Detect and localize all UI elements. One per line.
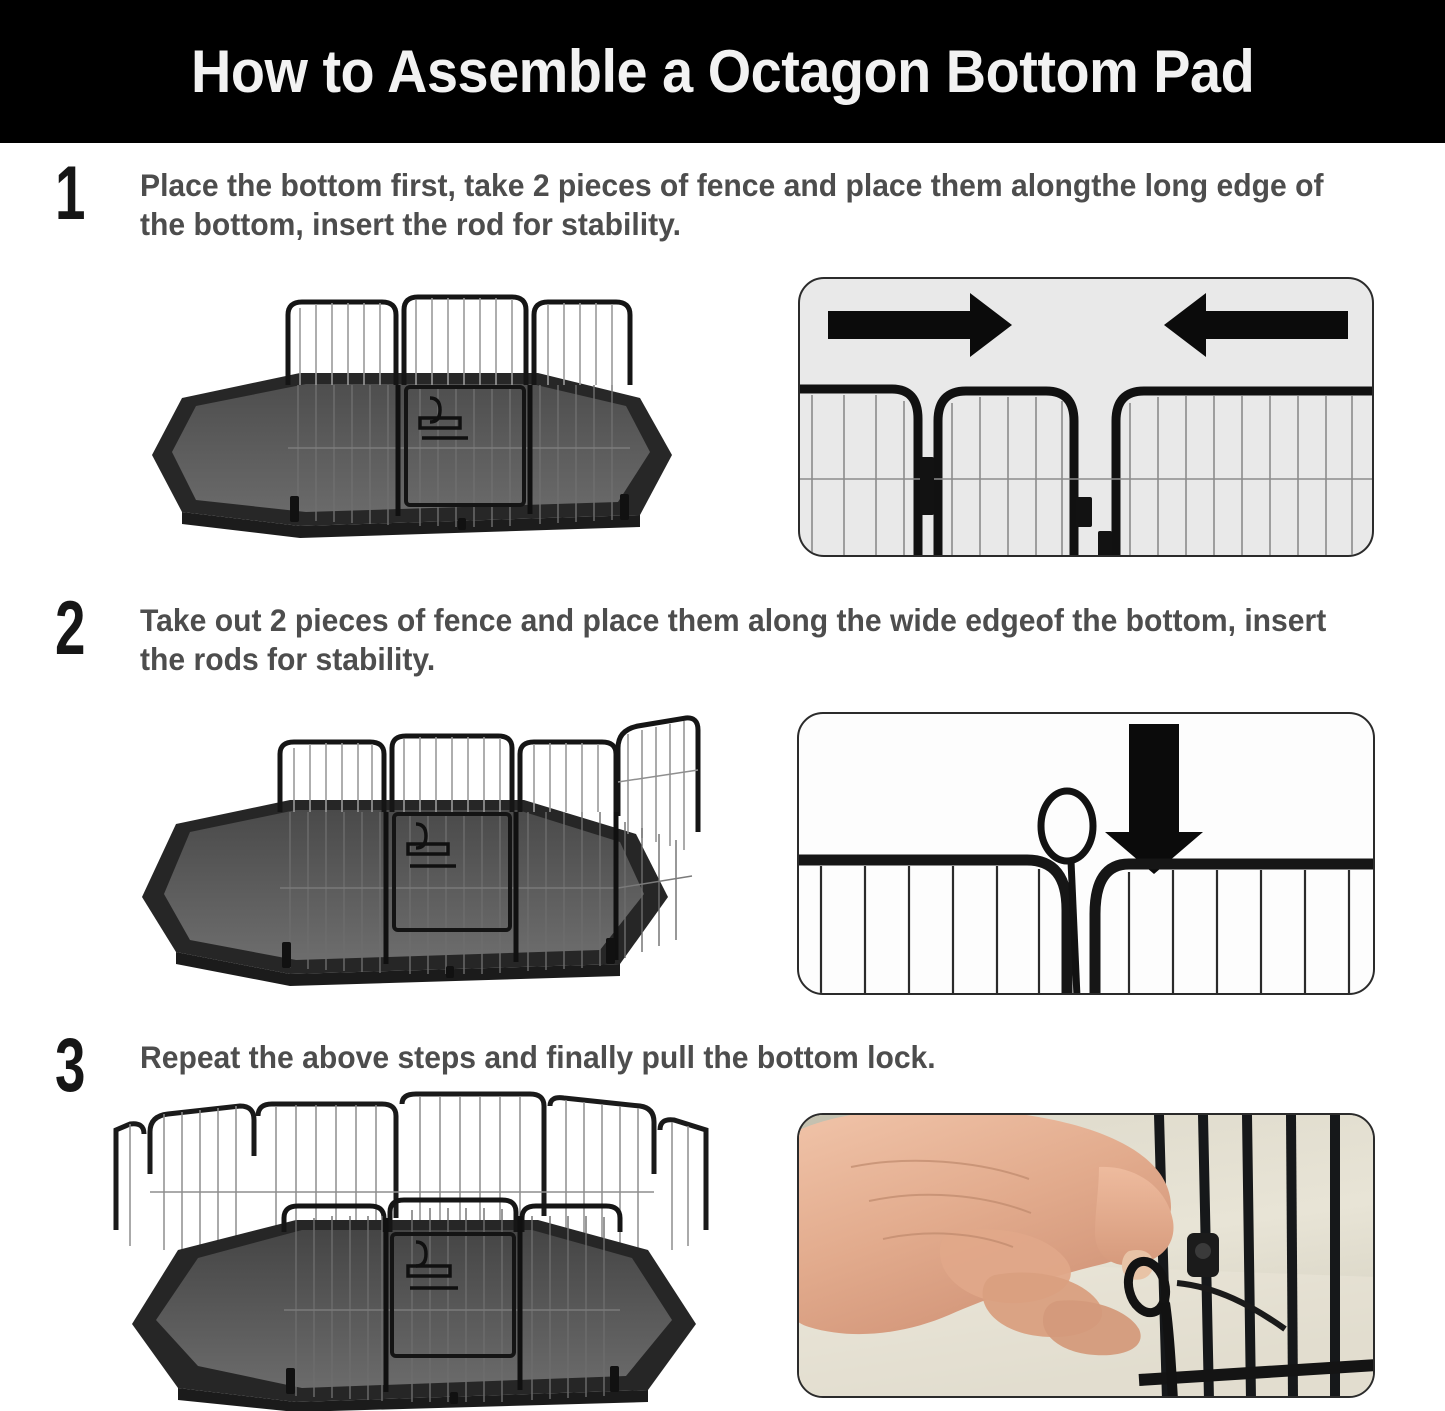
step-3-detail-panel	[797, 1113, 1375, 1398]
step-3-illustration	[120, 1100, 710, 1410]
page-title: How to Assemble a Octagon Bottom Pad	[191, 37, 1254, 106]
detail-two-panels-pushed-together-drawing	[800, 279, 1374, 557]
detail-rod-insertion-drawing	[799, 714, 1375, 995]
step-1-number: 1	[55, 156, 85, 232]
step-2-illustration	[120, 712, 700, 1000]
arrow-left-icon	[1164, 293, 1348, 357]
step-2-detail-panel	[797, 712, 1375, 995]
step-2-number: 2	[55, 591, 85, 667]
step-3-instruction: Repeat the above steps and finally pull …	[140, 1038, 1339, 1077]
step-1-header: 1 Place the bottom first, take 2 pieces …	[0, 160, 1445, 256]
detail-hand-pulling-bottom-lock-photo	[799, 1115, 1375, 1398]
step-1-detail-panel	[798, 277, 1374, 557]
arrow-down-icon	[1105, 724, 1203, 874]
step-2-instruction: Take out 2 pieces of fence and place the…	[140, 601, 1339, 679]
step-3-number: 3	[55, 1028, 85, 1104]
arrow-right-icon	[828, 293, 1012, 357]
octagon-pad-two-panels-drawing	[120, 280, 700, 560]
step-1-illustration	[120, 280, 700, 560]
step-2: 2 Take out 2 pieces of fence and place t…	[0, 595, 1445, 691]
octagon-pad-four-panels-drawing	[120, 712, 700, 1000]
step-1-instruction: Place the bottom first, take 2 pieces of…	[140, 166, 1339, 244]
step-1: 1 Place the bottom first, take 2 pieces …	[0, 160, 1445, 256]
step-2-header: 2 Take out 2 pieces of fence and place t…	[0, 595, 1445, 691]
octagon-pen-complete-drawing	[120, 1100, 710, 1410]
title-banner: How to Assemble a Octagon Bottom Pad	[0, 0, 1445, 143]
